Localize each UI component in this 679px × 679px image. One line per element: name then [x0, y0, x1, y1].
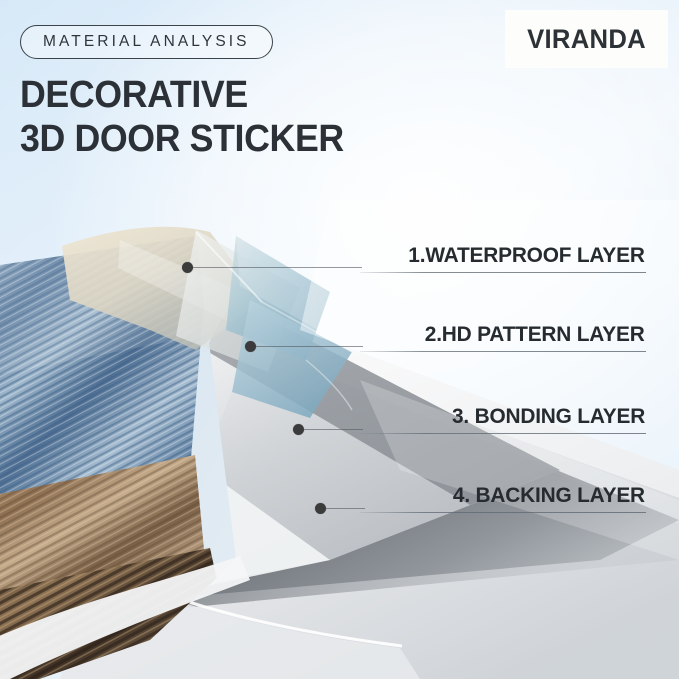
- callout-dot-2: [245, 341, 256, 352]
- layer-underline-3: [360, 433, 646, 434]
- leader-line-1: [192, 267, 362, 268]
- layer-label-2: 2.HD PATTERN LAYER: [425, 322, 645, 347]
- layer-underline-2: [360, 351, 646, 352]
- leader-line-4: [325, 508, 365, 509]
- layer-underline-1: [360, 272, 646, 273]
- brand-name: VIRANDA: [527, 24, 646, 55]
- infographic-canvas: MATERIAL ANALYSIS DECORATIVE 3D DOOR STI…: [0, 0, 679, 679]
- callout-dot-1: [182, 262, 193, 273]
- layer-label-1: 1.WATERPROOF LAYER: [409, 243, 645, 268]
- material-analysis-badge: MATERIAL ANALYSIS: [20, 25, 273, 59]
- layer-label-3: 3. BONDING LAYER: [452, 404, 645, 429]
- leader-line-3: [303, 429, 363, 430]
- callout-dot-3: [293, 424, 304, 435]
- leader-line-2: [255, 346, 363, 347]
- callout-dot-4: [315, 503, 326, 514]
- badge-label: MATERIAL ANALYSIS: [43, 33, 250, 51]
- page-title-line-1: DECORATIVE: [20, 76, 248, 114]
- layer-label-4: 4. BACKING LAYER: [453, 483, 645, 508]
- layer-underline-4: [360, 512, 646, 513]
- page-title-line-2: 3D DOOR STICKER: [20, 120, 344, 158]
- brand-logo: VIRANDA: [505, 10, 668, 68]
